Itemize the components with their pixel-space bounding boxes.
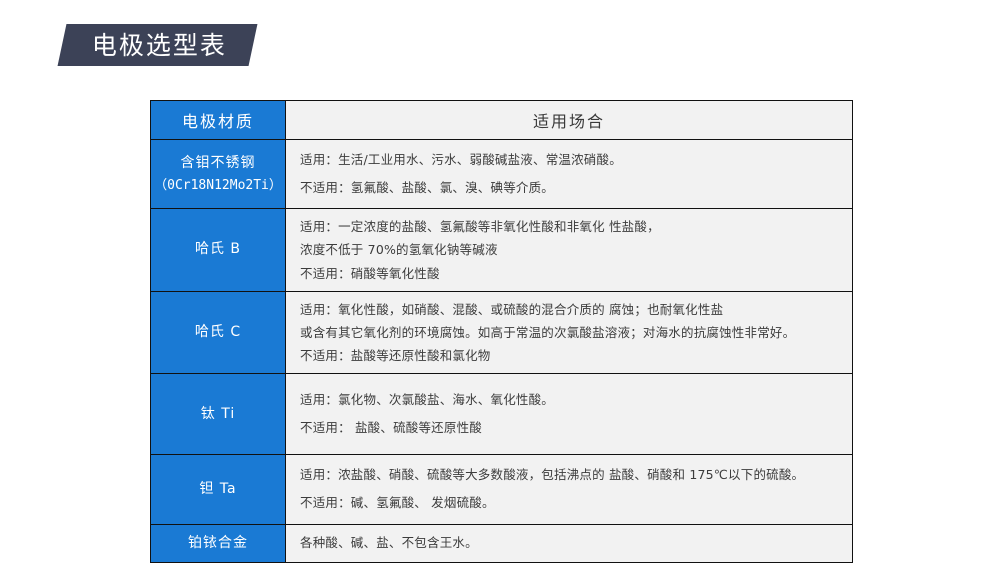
usage-line: 适用：一定浓度的盐酸、氢氟酸等非氧化性酸和非氧化 性盐酸，: [300, 215, 842, 238]
usage-line: 浓度不低于 70%的氢氧化钠等碱液: [300, 238, 842, 261]
usage-line: 适用：氧化性酸，如硝酸、混酸、或硫酸的混合介质的 腐蚀；也耐氧化性盐: [300, 298, 842, 321]
usage-line: 适用：氯化物、次氯酸盐、海水、氧化性酸。: [300, 386, 842, 414]
usage-line: 不适用：硝酸等氧化性酸: [300, 262, 842, 285]
usage-line: 不适用：氢氟酸、盐酸、氯、溴、碘等介质。: [300, 174, 842, 202]
material-name: 含钼不锈钢: [153, 153, 283, 174]
usage-line: 或含有其它氧化剂的环境腐蚀。如高于常温的次氯酸盐溶液；对海水的抗腐蚀性非常好。: [300, 321, 842, 344]
material-cell-titanium: 钛 Ti: [151, 374, 286, 455]
page-title: 电极选型表: [92, 33, 227, 58]
usage-line: 不适用： 盐酸、硫酸等还原性酸: [300, 414, 842, 442]
material-cell-stainless-steel: 含钼不锈钢 （0Cr18N12Mo2Ti）: [151, 140, 286, 209]
material-code: （0Cr18N12Mo2Ti）: [153, 176, 283, 196]
electrode-selection-table-wrapper: 电极材质 适用场合 含钼不锈钢 （0Cr18N12Mo2Ti） 适用：生活/工业…: [150, 100, 852, 563]
material-name: 哈氏 B: [153, 239, 283, 260]
table-row: 钛 Ti 适用：氯化物、次氯酸盐、海水、氧化性酸。 不适用： 盐酸、硫酸等还原性…: [151, 374, 853, 455]
usage-line: 各种酸、碱、盐、不包含王水。: [300, 531, 842, 554]
material-name: 铂铱合金: [153, 533, 283, 554]
table-row: 哈氏 B 适用：一定浓度的盐酸、氢氟酸等非氧化性酸和非氧化 性盐酸， 浓度不低于…: [151, 209, 853, 291]
table-row: 铂铱合金 各种酸、碱、盐、不包含王水。: [151, 524, 853, 562]
material-name: 钽 Ta: [153, 479, 283, 500]
page-title-banner: 电极选型表: [58, 24, 258, 66]
table-row: 含钼不锈钢 （0Cr18N12Mo2Ti） 适用：生活/工业用水、污水、弱酸碱盐…: [151, 140, 853, 209]
usage-line: 适用：生活/工业用水、污水、弱酸碱盐液、常温浓硝酸。: [300, 146, 842, 174]
usage-line: 不适用：盐酸等还原性酸和氯化物: [300, 344, 842, 367]
usage-cell-hastelloy-b: 适用：一定浓度的盐酸、氢氟酸等非氧化性酸和非氧化 性盐酸， 浓度不低于 70%的…: [286, 209, 853, 291]
material-name: 哈氏 C: [153, 322, 283, 343]
table-row: 钽 Ta 适用：浓盐酸、硝酸、硫酸等大多数酸液，包括沸点的 盐酸、硝酸和 175…: [151, 455, 853, 524]
material-cell-hastelloy-c: 哈氏 C: [151, 291, 286, 373]
usage-cell-platinum-iridium: 各种酸、碱、盐、不包含王水。: [286, 524, 853, 562]
usage-line: 不适用：碱、氢氟酸、 发烟硫酸。: [300, 489, 842, 517]
usage-cell-stainless-steel: 适用：生活/工业用水、污水、弱酸碱盐液、常温浓硝酸。 不适用：氢氟酸、盐酸、氯、…: [286, 140, 853, 209]
usage-cell-titanium: 适用：氯化物、次氯酸盐、海水、氧化性酸。 不适用： 盐酸、硫酸等还原性酸: [286, 374, 853, 455]
usage-line: 适用：浓盐酸、硝酸、硫酸等大多数酸液，包括沸点的 盐酸、硝酸和 175℃以下的硫…: [300, 461, 842, 489]
table-header-row: 电极材质 适用场合: [151, 101, 853, 140]
column-header-usage: 适用场合: [286, 101, 853, 140]
material-name: 钛 Ti: [153, 404, 283, 425]
material-cell-hastelloy-b: 哈氏 B: [151, 209, 286, 291]
material-cell-tantalum: 钽 Ta: [151, 455, 286, 524]
table-row: 哈氏 C 适用：氧化性酸，如硝酸、混酸、或硫酸的混合介质的 腐蚀；也耐氧化性盐 …: [151, 291, 853, 373]
usage-cell-tantalum: 适用：浓盐酸、硝酸、硫酸等大多数酸液，包括沸点的 盐酸、硝酸和 175℃以下的硫…: [286, 455, 853, 524]
usage-cell-hastelloy-c: 适用：氧化性酸，如硝酸、混酸、或硫酸的混合介质的 腐蚀；也耐氧化性盐 或含有其它…: [286, 291, 853, 373]
electrode-selection-table: 电极材质 适用场合 含钼不锈钢 （0Cr18N12Mo2Ti） 适用：生活/工业…: [150, 100, 853, 563]
column-header-material: 电极材质: [151, 101, 286, 140]
material-cell-platinum-iridium: 铂铱合金: [151, 524, 286, 562]
